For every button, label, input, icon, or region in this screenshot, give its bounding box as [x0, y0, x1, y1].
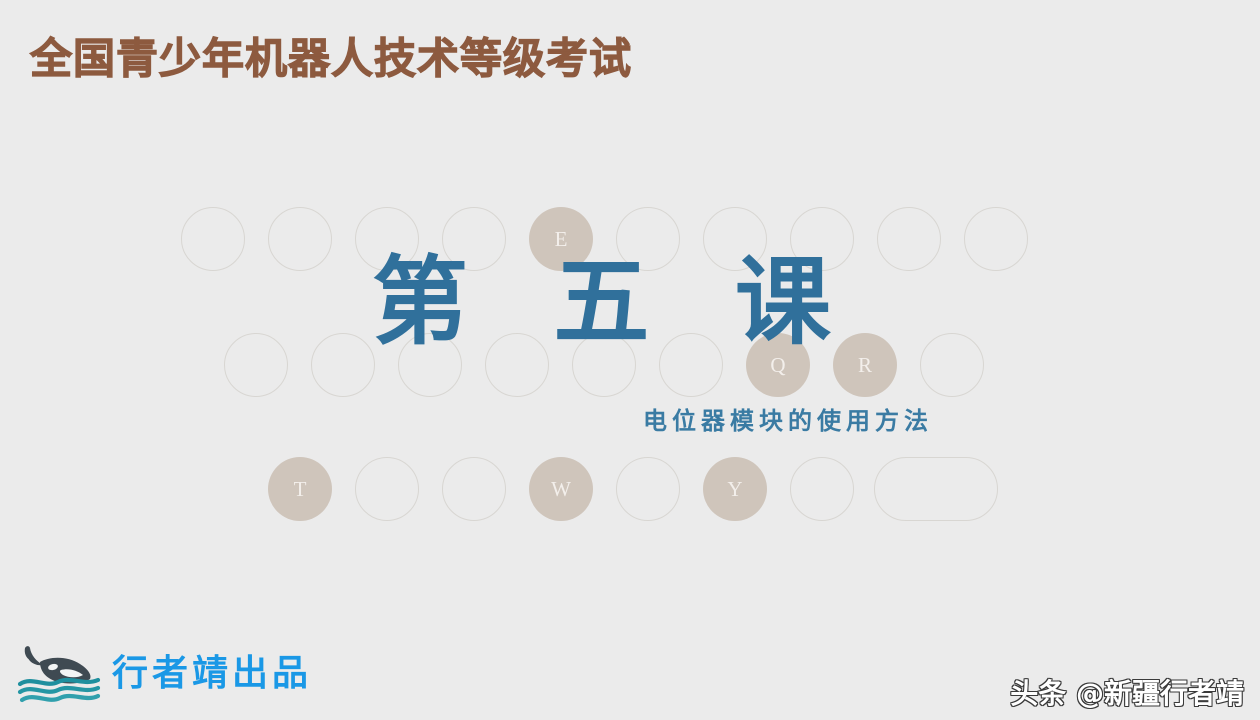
- keyboard-pattern-decoration: EQRTWY: [0, 0, 1260, 720]
- keyboard-key-label: T: [269, 458, 331, 520]
- keyboard-key-blank: [442, 457, 506, 521]
- brand-logo: 行者靖出品: [16, 642, 312, 706]
- keyboard-key-blank: [877, 207, 941, 271]
- lesson-subtitle: 电位器模块的使用方法: [643, 408, 933, 434]
- page-title: 全国青少年机器人技术等级考试: [30, 38, 632, 80]
- keyboard-key-blank: [874, 457, 998, 521]
- keyboard-key-label: W: [530, 458, 592, 520]
- keyboard-key-blank: [616, 457, 680, 521]
- slide-canvas: EQRTWY 全国青少年机器人技术等级考试 第 五 课 电位器模块的使用方法 行…: [0, 0, 1260, 720]
- lesson-title: 第 五 课: [372, 254, 857, 350]
- keyboard-key-label: Y: [704, 458, 766, 520]
- keyboard-key-blank: [268, 207, 332, 271]
- keyboard-key-blank: [920, 333, 984, 397]
- watermark: 头条 @新疆行者靖: [1010, 680, 1244, 708]
- keyboard-key-blank: [311, 333, 375, 397]
- brand-name: 行者靖出品: [112, 656, 312, 692]
- keyboard-key-blank: [964, 207, 1028, 271]
- keyboard-key-y: Y: [703, 457, 767, 521]
- keyboard-key-w: W: [529, 457, 593, 521]
- keyboard-key-blank: [224, 333, 288, 397]
- keyboard-key-blank: [181, 207, 245, 271]
- whale-waves-logo-icon: [16, 642, 102, 706]
- keyboard-key-blank: [355, 457, 419, 521]
- keyboard-key-t: T: [268, 457, 332, 521]
- keyboard-key-blank: [790, 457, 854, 521]
